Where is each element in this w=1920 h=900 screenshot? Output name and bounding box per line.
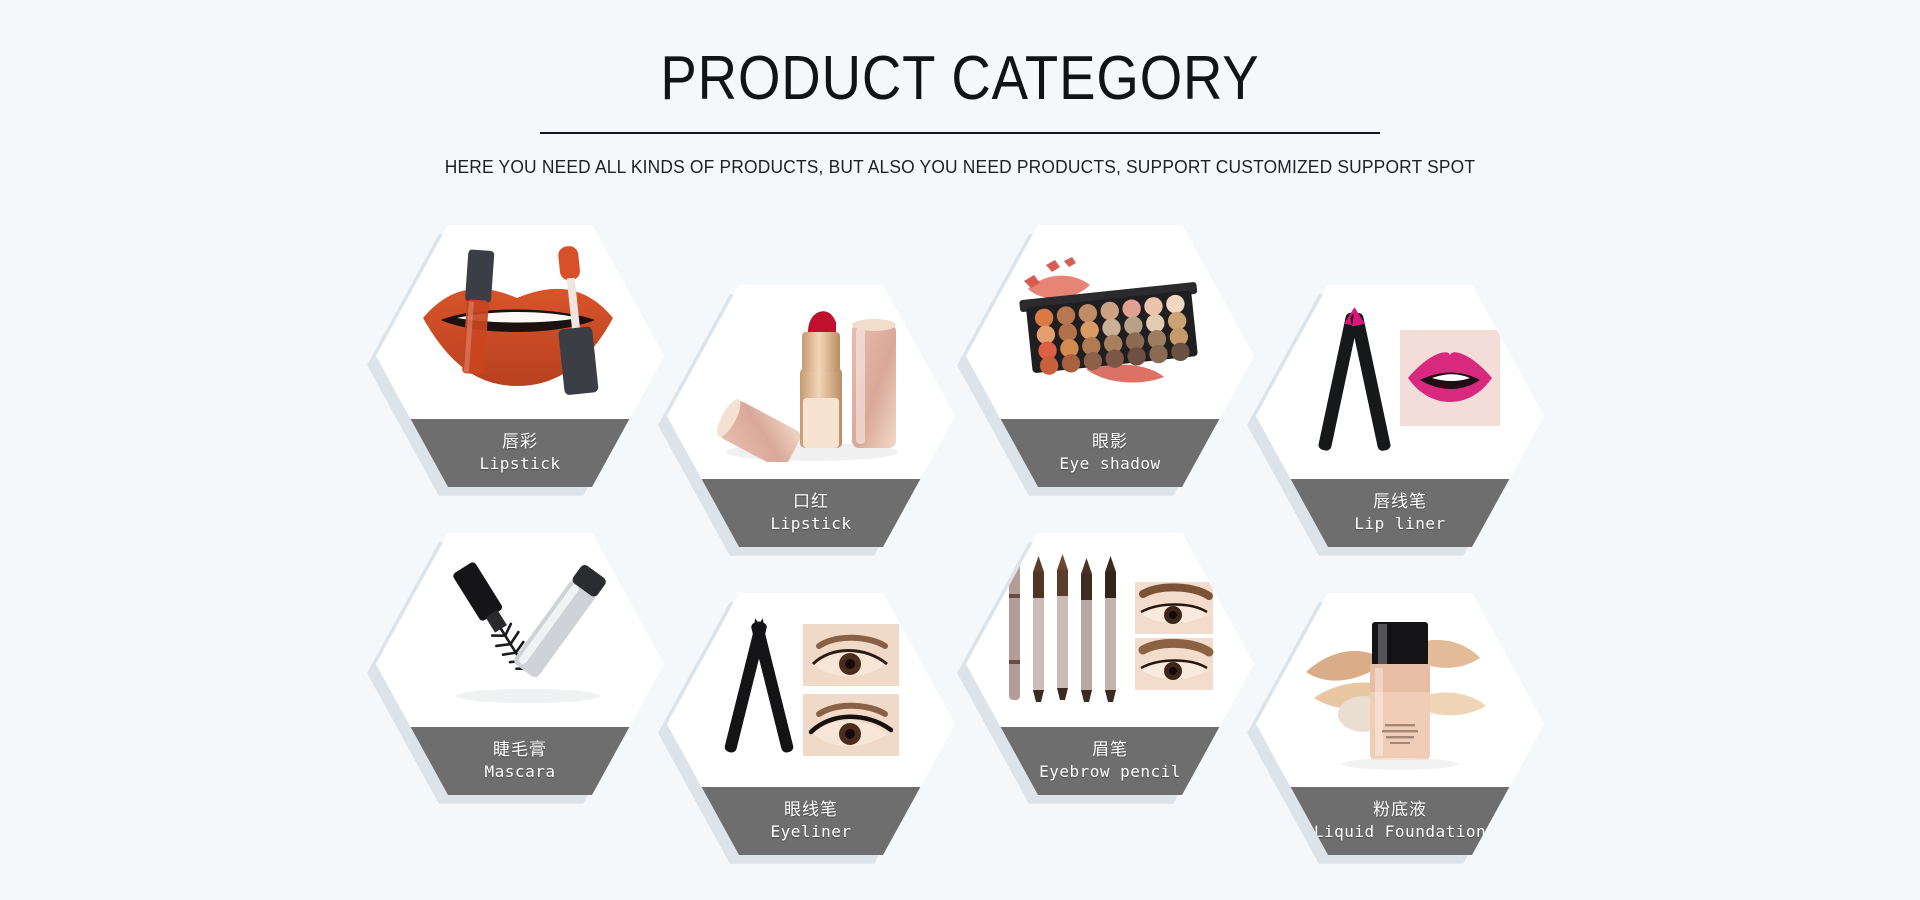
category-label-cn: 眉笔 — [1092, 739, 1128, 761]
category-label-cn: 唇彩 — [502, 431, 538, 453]
category-hex-lipstick[interactable]: 唇彩Lipstick — [376, 225, 664, 487]
eyeshadow-palette-photo — [966, 225, 1254, 419]
category-label-cn: 粉底液 — [1373, 799, 1427, 821]
category-hex-lip-liner[interactable]: 唇线笔Lip liner — [1256, 285, 1544, 547]
category-hex-eyeliner[interactable]: 眼线笔Eyeliner — [667, 593, 955, 855]
eyeliner-pencils-photo — [667, 593, 955, 787]
category-label-en: Eye shadow — [1059, 453, 1160, 475]
category-label-en: Eyeliner — [770, 821, 851, 843]
lipstick-tubes-photo — [667, 285, 955, 479]
liquid-foundation-photo — [1256, 593, 1544, 787]
category-label-en: Lipstick — [770, 513, 851, 535]
category-hex-eye-shadow[interactable]: 眼影Eye shadow — [966, 225, 1254, 487]
category-label-en: Lip liner — [1354, 513, 1445, 535]
lip-liner-pencils-photo — [1256, 285, 1544, 479]
product-category-page: PRODUCT CATEGORY HERE YOU NEED ALL KINDS… — [0, 0, 1920, 900]
category-hex-lipstick[interactable]: 口红Lipstick — [667, 285, 955, 547]
category-label-cn: 口红 — [793, 491, 829, 513]
category-hex-liquid-foundation[interactable]: 粉底液Liquid Foundation — [1256, 593, 1544, 855]
lip-gloss-photo — [376, 225, 664, 419]
category-label-cn: 眼线笔 — [784, 799, 838, 821]
category-hex-grid: 唇彩Lipstick — [0, 0, 1920, 900]
category-label-en: Mascara — [485, 761, 556, 783]
category-label-cn: 睫毛膏 — [493, 739, 547, 761]
category-label-en: Lipstick — [479, 453, 560, 475]
category-hex-eyebrow-pencil[interactable]: 眉笔Eyebrow pencil — [966, 533, 1254, 795]
category-label-en: Liquid Foundation — [1314, 821, 1486, 843]
eyebrow-pencils-photo — [966, 533, 1254, 727]
category-label-cn: 唇线笔 — [1373, 491, 1427, 513]
category-label-cn: 眼影 — [1092, 431, 1128, 453]
category-label-en: Eyebrow pencil — [1039, 761, 1181, 783]
category-hex-mascara[interactable]: 睫毛膏Mascara — [376, 533, 664, 795]
mascara-photo — [376, 533, 664, 727]
